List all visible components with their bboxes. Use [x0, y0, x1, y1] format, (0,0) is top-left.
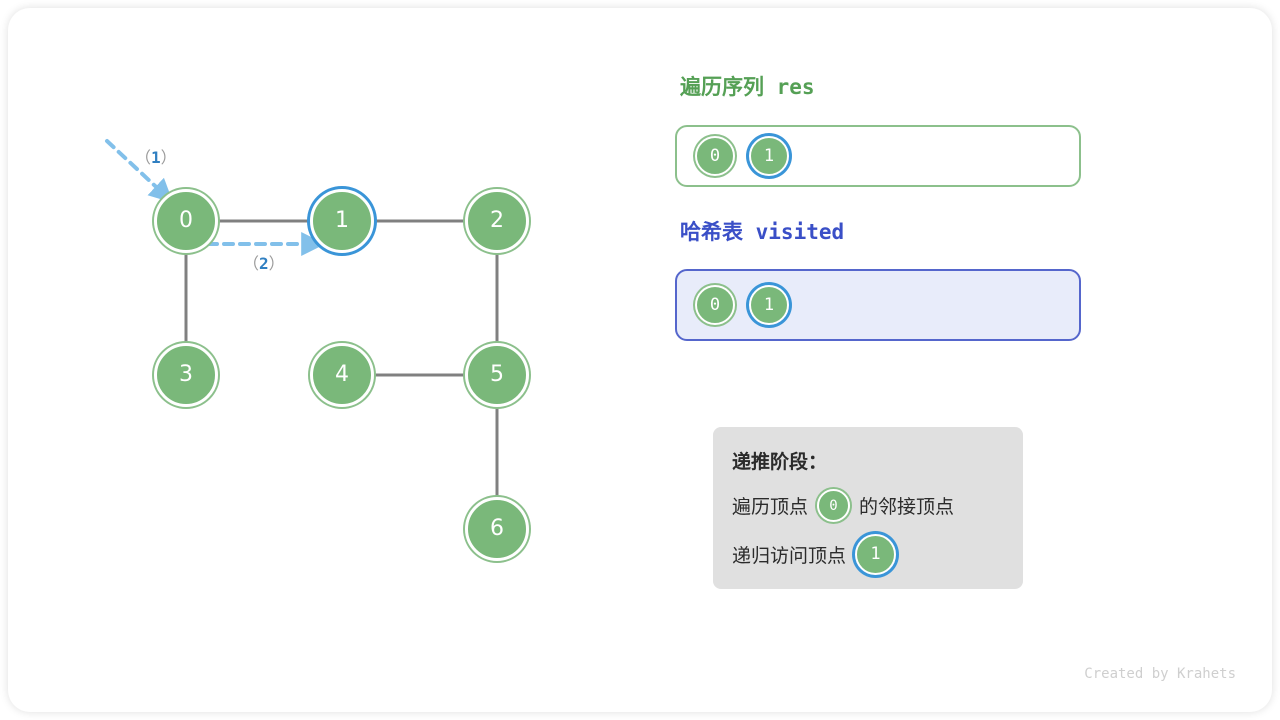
stage-line-1-before: 遍历顶点 [732, 492, 808, 519]
visited-cell-1: 1 [749, 285, 789, 325]
graph-node-2: 2 [465, 189, 529, 253]
step-label-1: （1） [135, 144, 177, 168]
graph-node-4: 4 [310, 343, 374, 407]
content-card: 0123456 （1）（2） 遍历序列 res 01 哈希表 visited 0… [8, 8, 1272, 712]
visited-cell-0: 0 [695, 285, 735, 325]
res-array-box: 01 [675, 125, 1081, 187]
graph-node-6: 6 [465, 497, 529, 561]
stage-title: 递推阶段： [732, 447, 827, 474]
stage-chip-vertex-0: 0 [817, 489, 850, 522]
stage-line-1: 遍历顶点 0 的邻接顶点 [732, 489, 954, 522]
right-panel: 遍历序列 res 01 哈希表 visited 01 [668, 8, 1280, 708]
stage-line-2-before: 递归访问顶点 [732, 541, 846, 568]
screenshot-canvas: 0123456 （1）（2） 遍历序列 res 01 哈希表 visited 0… [0, 0, 1280, 720]
stage-chip-vertex-1: 1 [855, 534, 896, 575]
res-cell-1: 1 [749, 136, 789, 176]
stage-line-1-after: 的邻接顶点 [859, 492, 954, 519]
credit-text: Created by Krahets [1084, 666, 1236, 682]
visited-heading: 哈希表 visited [680, 216, 844, 246]
stage-info-box: 递推阶段： 遍历顶点 0 的邻接顶点 递归访问顶点 1 [713, 427, 1023, 589]
stage-line-2: 递归访问顶点 1 [732, 534, 905, 575]
step-label-2: （2） [243, 250, 285, 274]
graph-node-3: 3 [154, 343, 218, 407]
visited-array-box: 01 [675, 269, 1081, 341]
graph-node-5: 5 [465, 343, 529, 407]
res-heading: 遍历序列 res [680, 71, 815, 101]
res-cell-0: 0 [695, 136, 735, 176]
graph-diagram: 0123456 （1）（2） [8, 8, 668, 708]
graph-node-1: 1 [310, 189, 374, 253]
graph-node-0: 0 [154, 189, 218, 253]
